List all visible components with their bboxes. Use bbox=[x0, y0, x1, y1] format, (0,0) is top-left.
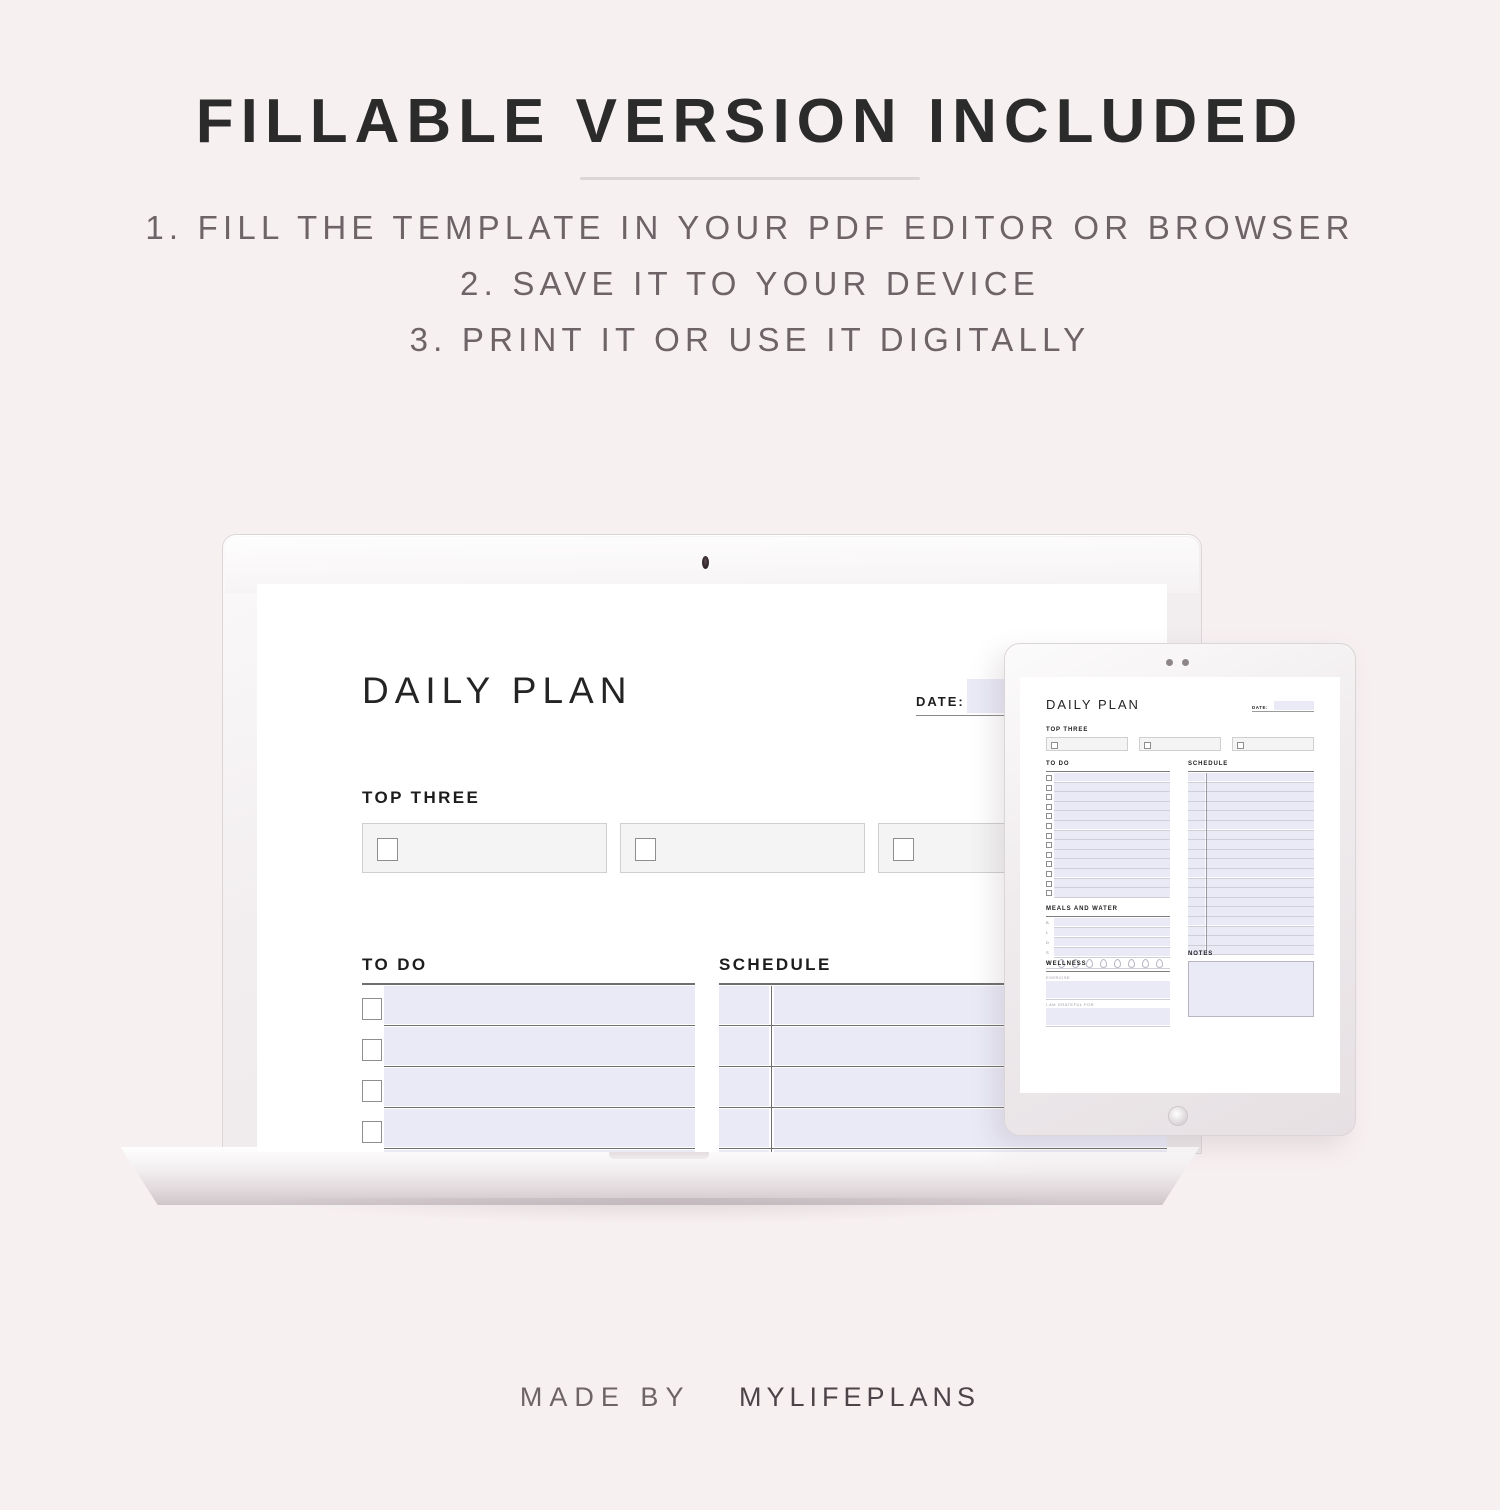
to-do-row-rule bbox=[384, 1025, 695, 1026]
to-do-checkbox[interactable] bbox=[1046, 794, 1052, 800]
to-do-checkbox[interactable] bbox=[1046, 861, 1052, 867]
schedule-entry-input[interactable] bbox=[1207, 783, 1314, 791]
section-title-wellness: WELLNESS bbox=[1046, 961, 1087, 967]
section-title-top-three: TOP THREE bbox=[1046, 727, 1088, 733]
footer-credit: MADE BY MYLIFEPLANS bbox=[0, 1382, 1500, 1413]
schedule-time-input[interactable] bbox=[1188, 792, 1205, 800]
schedule-column-divider bbox=[1206, 792, 1207, 802]
meal-row: B bbox=[1046, 918, 1170, 928]
to-do-input[interactable] bbox=[1054, 773, 1170, 781]
schedule-time-input[interactable] bbox=[1188, 773, 1205, 781]
schedule-column-divider bbox=[1206, 773, 1207, 783]
tablet-sensor-icon bbox=[1182, 659, 1189, 666]
to-do-top-rule bbox=[362, 983, 695, 985]
wellness-field-label: EXERCISE bbox=[1046, 975, 1070, 980]
schedule-time-input[interactable] bbox=[1188, 831, 1205, 839]
date-label: DATE: bbox=[1252, 705, 1268, 710]
top-three-box-2[interactable] bbox=[620, 823, 865, 873]
schedule-entry-input[interactable] bbox=[1207, 811, 1314, 819]
date-label: DATE: bbox=[916, 694, 965, 709]
promo-graphic: FILLABLE VERSION INCLUDED 1. FILL THE TE… bbox=[0, 0, 1500, 1510]
to-do-row bbox=[1046, 869, 1170, 879]
to-do-checkbox[interactable] bbox=[362, 998, 382, 1020]
schedule-column-divider bbox=[771, 1068, 772, 1109]
section-title-meals-and-water: MEALS AND WATER bbox=[1046, 906, 1118, 912]
schedule-row bbox=[1188, 802, 1314, 812]
meal-input[interactable] bbox=[1054, 938, 1170, 946]
wellness-top-rule bbox=[1046, 971, 1170, 972]
schedule-time-input[interactable] bbox=[1188, 898, 1205, 906]
instruction-step-3: 3. PRINT IT OR USE IT DIGITALLY bbox=[0, 312, 1500, 368]
to-do-row bbox=[1046, 773, 1170, 783]
schedule-entry-input[interactable] bbox=[1207, 859, 1314, 867]
schedule-column-divider bbox=[771, 1027, 772, 1068]
date-underline bbox=[1252, 711, 1314, 712]
laptop-shadow bbox=[264, 1198, 1064, 1224]
footer-made-by: MADE BY bbox=[520, 1382, 690, 1412]
schedule-time-input[interactable] bbox=[1188, 879, 1205, 887]
to-do-row bbox=[1046, 879, 1170, 889]
to-do-checkbox[interactable] bbox=[1046, 890, 1052, 896]
schedule-row-rule bbox=[719, 1148, 1167, 1149]
section-title-notes: NOTES bbox=[1188, 951, 1213, 957]
schedule-entry-input[interactable] bbox=[1207, 773, 1314, 781]
to-do-row-rule bbox=[384, 1066, 695, 1067]
to-do-row bbox=[1046, 811, 1170, 821]
to-do-row bbox=[1046, 840, 1170, 850]
schedule-time-input[interactable] bbox=[719, 1027, 769, 1065]
schedule-time-input[interactable] bbox=[719, 986, 769, 1024]
water-drop-icon[interactable] bbox=[1156, 959, 1163, 968]
to-do-top-rule bbox=[1046, 771, 1170, 772]
water-row-rule bbox=[1046, 968, 1170, 969]
schedule-row bbox=[1188, 879, 1314, 889]
water-drop-icon[interactable] bbox=[1086, 959, 1093, 968]
schedule-column-divider bbox=[1206, 850, 1207, 860]
schedule-time-input[interactable] bbox=[1188, 907, 1205, 915]
to-do-input[interactable] bbox=[1054, 888, 1170, 896]
to-do-checkbox[interactable] bbox=[1046, 804, 1052, 810]
water-drop-icon[interactable] bbox=[1100, 959, 1107, 968]
instruction-step-2: 2. SAVE IT TO YOUR DEVICE bbox=[0, 256, 1500, 312]
section-title-to-do: TO DO bbox=[1046, 761, 1069, 767]
schedule-row bbox=[1188, 927, 1314, 937]
schedule-entry-input[interactable] bbox=[1207, 898, 1314, 906]
schedule-row bbox=[1188, 936, 1314, 946]
schedule-entry-input[interactable] bbox=[1207, 869, 1314, 877]
meal-label: S bbox=[1046, 950, 1049, 955]
schedule-entry-input[interactable] bbox=[1207, 831, 1314, 839]
schedule-time-input[interactable] bbox=[719, 1109, 769, 1147]
notes-input[interactable] bbox=[1188, 961, 1314, 1017]
tablet-screen: DAILY PLANDATE:TOP THREETO DOSCHEDULEMEA… bbox=[1020, 677, 1340, 1093]
top-three-checkbox-1[interactable] bbox=[1051, 742, 1058, 749]
to-do-checkbox[interactable] bbox=[1046, 785, 1052, 791]
top-three-checkbox-2[interactable] bbox=[635, 838, 656, 861]
planner-title: DAILY PLAN bbox=[362, 670, 632, 712]
schedule-column-divider bbox=[1206, 898, 1207, 908]
to-do-checkbox[interactable] bbox=[1046, 871, 1052, 877]
schedule-time-input[interactable] bbox=[1188, 811, 1205, 819]
meal-row: L bbox=[1046, 928, 1170, 938]
to-do-row bbox=[1046, 783, 1170, 793]
to-do-input[interactable] bbox=[384, 986, 695, 1024]
schedule-row bbox=[1188, 821, 1314, 831]
meal-row: D bbox=[1046, 938, 1170, 948]
to-do-input[interactable] bbox=[384, 1068, 695, 1106]
schedule-row bbox=[1188, 783, 1314, 793]
schedule-time-input[interactable] bbox=[1188, 936, 1205, 944]
to-do-checkbox[interactable] bbox=[1046, 823, 1052, 829]
to-do-checkbox[interactable] bbox=[362, 1080, 382, 1102]
schedule-column-divider bbox=[1206, 783, 1207, 793]
schedule-column-divider bbox=[1206, 927, 1207, 937]
section-title-top-three: TOP THREE bbox=[362, 788, 480, 808]
wellness-field-input[interactable] bbox=[1046, 1008, 1170, 1025]
schedule-row bbox=[1188, 888, 1314, 898]
meal-label: B bbox=[1046, 920, 1049, 925]
title-divider bbox=[580, 177, 920, 180]
schedule-time-input[interactable] bbox=[1188, 859, 1205, 867]
to-do-input[interactable] bbox=[1054, 831, 1170, 839]
top-three-box-1[interactable] bbox=[1046, 737, 1128, 751]
schedule-column-divider bbox=[1206, 936, 1207, 946]
top-three-checkbox-2[interactable] bbox=[1144, 742, 1151, 749]
section-title-to-do: TO DO bbox=[362, 955, 428, 975]
top-three-box-1[interactable] bbox=[362, 823, 607, 873]
schedule-column-divider bbox=[1206, 802, 1207, 812]
top-three-checkbox-1[interactable] bbox=[377, 838, 398, 861]
to-do-row bbox=[1046, 831, 1170, 841]
schedule-time-input[interactable] bbox=[1188, 927, 1205, 935]
to-do-input[interactable] bbox=[1054, 879, 1170, 887]
meal-label: L bbox=[1046, 930, 1048, 935]
schedule-time-input[interactable] bbox=[1188, 821, 1205, 829]
schedule-column-divider bbox=[1206, 821, 1207, 831]
to-do-row bbox=[1046, 859, 1170, 869]
schedule-time-input[interactable] bbox=[1188, 888, 1205, 896]
schedule-column-divider bbox=[1206, 869, 1207, 879]
schedule-time-input[interactable] bbox=[1188, 802, 1205, 810]
schedule-time-input[interactable] bbox=[1188, 840, 1205, 848]
wellness-field-label: I AM GRATEFUL FOR bbox=[1046, 1002, 1094, 1007]
schedule-column-divider bbox=[771, 986, 772, 1027]
schedule-row bbox=[1188, 811, 1314, 821]
section-title-schedule: SCHEDULE bbox=[1188, 761, 1228, 767]
schedule-column-divider bbox=[771, 1109, 772, 1150]
to-do-input[interactable] bbox=[1054, 783, 1170, 791]
to-do-input[interactable] bbox=[1054, 792, 1170, 800]
to-do-input[interactable] bbox=[1054, 811, 1170, 819]
top-three-box-2[interactable] bbox=[1139, 737, 1221, 751]
to-do-row bbox=[1046, 850, 1170, 860]
schedule-row bbox=[1188, 907, 1314, 917]
to-do-row bbox=[362, 1068, 695, 1109]
top-three-box-3[interactable] bbox=[1232, 737, 1314, 751]
schedule-top-rule bbox=[1188, 771, 1314, 772]
tablet-home-button[interactable] bbox=[1168, 1106, 1188, 1126]
meals-top-rule bbox=[1046, 916, 1170, 917]
instruction-list: 1. FILL THE TEMPLATE IN YOUR PDF EDITOR … bbox=[0, 200, 1500, 368]
to-do-row bbox=[362, 986, 695, 1027]
to-do-checkbox[interactable] bbox=[362, 1121, 382, 1143]
schedule-entry-input[interactable] bbox=[1207, 888, 1314, 896]
to-do-row-rule bbox=[1054, 897, 1170, 898]
schedule-entry-input[interactable] bbox=[1207, 802, 1314, 810]
to-do-row-rule bbox=[384, 1107, 695, 1108]
schedule-row bbox=[1188, 869, 1314, 879]
schedule-entry-input[interactable] bbox=[774, 1150, 1167, 1152]
to-do-checkbox[interactable] bbox=[1046, 813, 1052, 819]
to-do-checkbox[interactable] bbox=[1046, 775, 1052, 781]
schedule-entry-input[interactable] bbox=[1207, 917, 1314, 925]
to-do-input[interactable] bbox=[384, 1109, 695, 1147]
schedule-entry-input[interactable] bbox=[1207, 840, 1314, 848]
to-do-row-rule bbox=[384, 1148, 695, 1149]
schedule-column-divider bbox=[1206, 840, 1207, 850]
schedule-entry-input[interactable] bbox=[1207, 936, 1314, 944]
to-do-input[interactable] bbox=[1054, 840, 1170, 848]
laptop-camera-icon bbox=[702, 556, 709, 569]
schedule-column-divider bbox=[1206, 907, 1207, 917]
schedule-row bbox=[1188, 773, 1314, 783]
to-do-input[interactable] bbox=[384, 1150, 695, 1152]
schedule-column-divider bbox=[1206, 859, 1207, 869]
schedule-column-divider bbox=[1206, 879, 1207, 889]
top-three-checkbox-3[interactable] bbox=[1237, 742, 1244, 749]
schedule-time-input[interactable] bbox=[1188, 850, 1205, 858]
schedule-row bbox=[1188, 917, 1314, 927]
to-do-input[interactable] bbox=[1054, 802, 1170, 810]
to-do-input[interactable] bbox=[1054, 850, 1170, 858]
to-do-row bbox=[1046, 821, 1170, 831]
date-input[interactable] bbox=[1274, 701, 1314, 710]
schedule-time-input[interactable] bbox=[1188, 917, 1205, 925]
schedule-column-divider bbox=[771, 1150, 772, 1152]
meal-input[interactable] bbox=[1054, 928, 1170, 936]
water-drop-icon[interactable] bbox=[1114, 959, 1121, 968]
wellness-field-input[interactable] bbox=[1046, 981, 1170, 998]
wellness-field-rule bbox=[1046, 999, 1170, 1000]
schedule-entry-input[interactable] bbox=[1207, 850, 1314, 858]
to-do-checkbox[interactable] bbox=[362, 1039, 382, 1061]
schedule-column-divider bbox=[1206, 888, 1207, 898]
to-do-row bbox=[362, 1027, 695, 1068]
schedule-row bbox=[1188, 850, 1314, 860]
top-three-checkbox-3[interactable] bbox=[893, 838, 914, 861]
tablet-camera-icon bbox=[1166, 659, 1173, 666]
schedule-row bbox=[719, 1150, 1167, 1152]
schedule-entry-input[interactable] bbox=[1207, 792, 1314, 800]
to-do-checkbox[interactable] bbox=[1046, 852, 1052, 858]
schedule-entry-input[interactable] bbox=[1207, 907, 1314, 915]
page-title: FILLABLE VERSION INCLUDED bbox=[0, 86, 1500, 157]
schedule-row bbox=[1188, 840, 1314, 850]
schedule-entry-input[interactable] bbox=[1207, 927, 1314, 935]
schedule-entry-input[interactable] bbox=[1207, 821, 1314, 829]
water-drop-icon[interactable] bbox=[1128, 959, 1135, 968]
footer-brand: MYLIFEPLANS bbox=[739, 1382, 980, 1412]
meal-label: D bbox=[1046, 940, 1049, 945]
planner-page-tablet: DAILY PLANDATE:TOP THREETO DOSCHEDULEMEA… bbox=[1020, 677, 1340, 1093]
tablet-device: DAILY PLANDATE:TOP THREETO DOSCHEDULEMEA… bbox=[1004, 643, 1356, 1136]
to-do-row bbox=[1046, 792, 1170, 802]
schedule-row bbox=[1188, 898, 1314, 908]
schedule-row bbox=[1188, 831, 1314, 841]
to-do-row bbox=[1046, 802, 1170, 812]
instruction-step-1: 1. FILL THE TEMPLATE IN YOUR PDF EDITOR … bbox=[0, 200, 1500, 256]
to-do-row bbox=[1046, 888, 1170, 898]
meal-input[interactable] bbox=[1054, 918, 1170, 926]
to-do-input[interactable] bbox=[1054, 869, 1170, 877]
schedule-time-input[interactable] bbox=[719, 1150, 769, 1152]
schedule-row bbox=[1188, 792, 1314, 802]
to-do-input[interactable] bbox=[1054, 859, 1170, 867]
planner-title: DAILY PLAN bbox=[1046, 697, 1140, 712]
schedule-time-input[interactable] bbox=[1188, 783, 1205, 791]
meal-row: S bbox=[1046, 948, 1170, 958]
schedule-column-divider bbox=[1206, 917, 1207, 927]
water-drop-icon[interactable] bbox=[1142, 959, 1149, 968]
schedule-column-divider bbox=[1206, 831, 1207, 841]
to-do-input[interactable] bbox=[384, 1027, 695, 1065]
to-do-input[interactable] bbox=[1054, 821, 1170, 829]
schedule-row bbox=[1188, 859, 1314, 869]
to-do-checkbox[interactable] bbox=[1046, 881, 1052, 887]
to-do-row bbox=[362, 1150, 695, 1152]
to-do-checkbox[interactable] bbox=[1046, 833, 1052, 839]
to-do-checkbox[interactable] bbox=[1046, 842, 1052, 848]
schedule-column-divider bbox=[1206, 811, 1207, 821]
wellness-field-rule bbox=[1046, 1026, 1170, 1027]
schedule-entry-input[interactable] bbox=[1207, 879, 1314, 887]
to-do-row bbox=[362, 1109, 695, 1150]
schedule-entry-input[interactable] bbox=[1207, 946, 1314, 954]
schedule-time-input[interactable] bbox=[1188, 869, 1205, 877]
section-title-schedule: SCHEDULE bbox=[719, 955, 832, 975]
schedule-time-input[interactable] bbox=[719, 1068, 769, 1106]
meal-input[interactable] bbox=[1054, 948, 1170, 956]
